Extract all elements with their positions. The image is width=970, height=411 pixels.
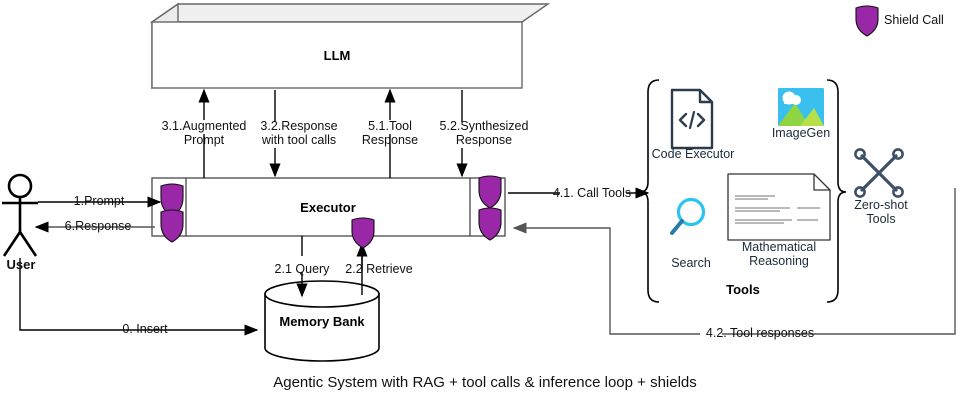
tool-label-mathematical-reasoning: Mathematical Reasoning — [722, 240, 836, 268]
crossed-wrenches-icon — [855, 149, 902, 196]
edge-label-retrieve: 2.2 Retrieve — [330, 262, 428, 276]
edge-label-prompt: 1.Prompt — [40, 194, 158, 208]
edge-label-synthesized-response: 5.2.Synthesized Response — [422, 119, 546, 147]
tool-label-imagegen: ImageGen — [762, 126, 840, 140]
tools-group-label: Tools — [700, 282, 786, 297]
edge-label-insert: 0. Insert — [60, 322, 230, 336]
magnifier-icon — [672, 200, 704, 234]
image-icon — [778, 88, 824, 126]
tool-label-zero-shot-tools: Zero-shot Tools — [840, 198, 922, 226]
legend-shield-icon — [856, 6, 878, 36]
legend-label: Shield Call — [884, 13, 964, 27]
formula-document-icon — [728, 174, 830, 240]
llm-label: LLM — [152, 48, 522, 63]
user-figure — [2, 175, 38, 256]
user-label: User — [0, 258, 42, 272]
shield-icon — [352, 218, 374, 248]
memory-bank-label: Memory Bank — [265, 314, 379, 329]
code-document-icon — [672, 90, 712, 148]
edge-label-call-tools: 4.1. Call Tools — [540, 186, 644, 200]
diagram-canvas: LLM Executor Memory Bank User Tools 1.Pr… — [0, 0, 970, 411]
executor-label: Executor — [186, 200, 470, 215]
tool-label-search: Search — [656, 256, 726, 270]
llm-node — [152, 4, 548, 88]
edge-insert — [20, 258, 257, 330]
shield-icon — [161, 210, 183, 242]
diagram-caption: Agentic System with RAG + tool calls & i… — [0, 374, 970, 391]
tool-label-code-executor: Code Executor — [648, 147, 738, 161]
edge-label-response: 6.Response — [40, 219, 156, 233]
edge-label-tool-responses: 4.2. Tool responses — [660, 326, 860, 340]
